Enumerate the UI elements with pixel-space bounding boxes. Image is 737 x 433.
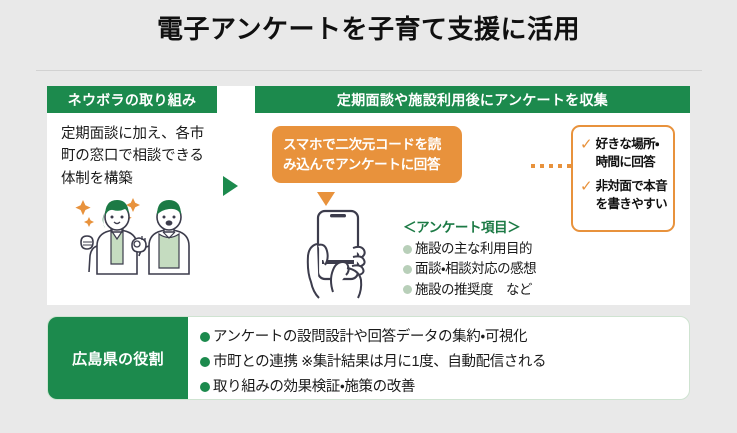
left-panel-body: 定期面談に加え、各市町の窓口で相談できる体制を構築 xyxy=(47,113,217,190)
merits-box: ✓ 好きな場所・時間に回答 ✓ 非対面で本音を書きやすい xyxy=(571,125,675,232)
survey-item-label: 施設の主な利用目的 xyxy=(415,241,532,256)
survey-item-label: 施設の推奨度 など xyxy=(415,282,532,297)
bullet-dot-icon xyxy=(200,382,210,392)
two-staff-people-illustration xyxy=(65,190,205,281)
left-panel: ネウボラの取り組み 定期面談に加え、各市町の窓口で相談できる体制を構築 xyxy=(47,86,217,305)
title-divider xyxy=(36,70,702,71)
merit-label: 非対面で本音を書きやすい xyxy=(596,178,667,213)
merit-item: ✓ 非対面で本音を書きやすい xyxy=(580,178,667,213)
triangle-right-icon xyxy=(223,176,238,196)
right-panel-header: 定期面談や施設利用後にアンケートを収集 xyxy=(255,86,690,113)
merit-item: ✓ 好きな場所・時間に回答 xyxy=(580,136,667,171)
speech-bubble: スマホで二次元コードを読み込んでアンケートに回答 xyxy=(272,126,462,183)
speech-bubble-tail xyxy=(317,192,335,206)
bullet-dot-icon xyxy=(403,285,412,294)
role-item: アンケートの設問設計や回答データの集約・可視化 xyxy=(200,325,680,350)
merit-label: 好きな場所・時間に回答 xyxy=(596,136,667,171)
role-panel-label: 広島県の役割 xyxy=(48,317,188,399)
role-item-label: アンケートの設問設計や回答データの集約・可視化 xyxy=(213,329,527,345)
check-icon: ✓ xyxy=(580,178,593,196)
page-title: 電子アンケートを子育て支援に活用 xyxy=(0,14,737,45)
role-panel: 広島県の役割 アンケートの設問設計や回答データの集約・可視化 市町との連携 ※集… xyxy=(47,316,690,400)
survey-item-label: 面談・相談対応の感想 xyxy=(415,261,536,276)
survey-item: 施設の主な利用目的 xyxy=(403,239,563,259)
survey-item: 面談・相談対応の感想 xyxy=(403,259,563,279)
survey-items-block: ＜アンケート項目＞ 施設の主な利用目的 面談・相談対応の感想 施設の推奨度 など xyxy=(403,216,563,300)
role-item-label: 取り組みの効果検証・施策の改善 xyxy=(213,379,415,395)
right-panel-body: スマホで二次元コードを読み込んでアンケートに回答 xyxy=(255,113,690,305)
hand-holding-smartphone-illustration xyxy=(295,208,390,305)
bullet-dot-icon xyxy=(200,357,210,367)
survey-item: 施設の推奨度 など xyxy=(403,280,563,300)
check-icon: ✓ xyxy=(580,136,593,154)
survey-items-title: ＜アンケート項目＞ xyxy=(403,216,563,236)
left-panel-header: ネウボラの取り組み xyxy=(47,86,217,113)
bullet-dot-icon xyxy=(403,245,412,254)
right-panel: 定期面談や施設利用後にアンケートを収集 スマホで二次元コードを読み込んでアンケー… xyxy=(255,86,690,305)
bullet-dot-icon xyxy=(403,265,412,274)
role-item-label: 市町との連携 ※集計結果は月に1度、自動配信される xyxy=(213,354,546,370)
role-item-list: アンケートの設問設計や回答データの集約・可視化 市町との連携 ※集計結果は月に1… xyxy=(200,325,680,400)
page-title-container: 電子アンケートを子育て支援に活用 xyxy=(0,14,737,45)
role-item: 取り組みの効果検証・施策の改善 xyxy=(200,375,680,400)
dotted-connector xyxy=(531,164,573,168)
role-item: 市町との連携 ※集計結果は月に1度、自動配信される xyxy=(200,350,680,375)
bullet-dot-icon xyxy=(200,332,210,342)
main-card: ネウボラの取り組み 定期面談に加え、各市町の窓口で相談できる体制を構築 xyxy=(47,86,690,305)
